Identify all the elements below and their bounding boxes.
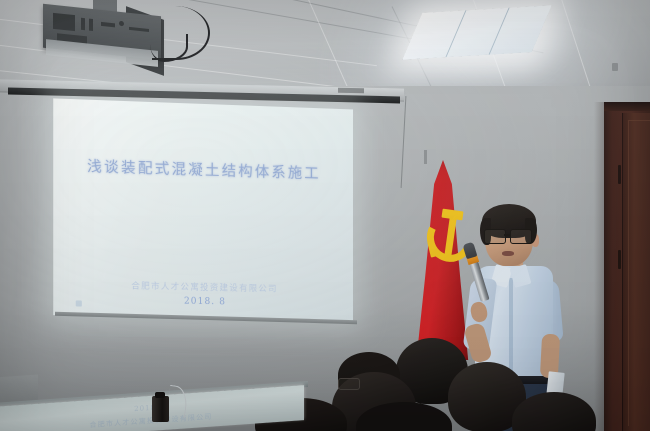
door-hinge (618, 165, 621, 184)
flag-pole (424, 150, 427, 164)
audience-eyeglasses-icon (338, 378, 360, 390)
slide-corner-mark (76, 300, 82, 306)
shirt-placket (509, 278, 513, 378)
sprinkler-head-icon (612, 63, 618, 71)
table-object-cap (155, 392, 165, 398)
projection-screen: 浅谈装配式混凝土结构体系施工 合肥市人才公寓投资建设有限公司 2018. 8 (53, 98, 353, 320)
door-panel-inset (628, 120, 650, 426)
microphone-head (462, 242, 477, 260)
door-hinge (618, 250, 621, 269)
fluorescent-panel-light (402, 5, 552, 60)
screen-housing-label (338, 88, 364, 94)
presenter-mouth (502, 251, 514, 256)
eyeglasses-icon (484, 229, 534, 242)
door-frame-header (604, 102, 650, 111)
photograph-scene: 浅谈装配式混凝土结构体系施工 合肥市人才公寓投资建设有限公司 2018. 8 (0, 0, 650, 431)
